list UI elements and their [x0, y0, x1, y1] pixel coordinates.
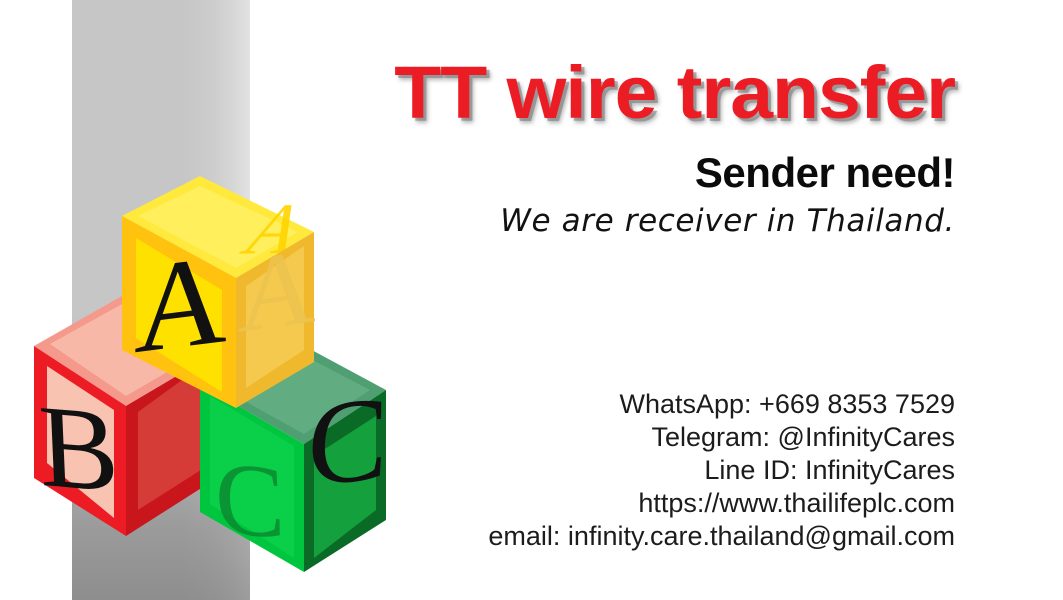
- subtitle-sender-need: Sender need!: [260, 150, 955, 196]
- poster-canvas: B C C: [0, 0, 1063, 600]
- svg-text:A: A: [134, 227, 229, 381]
- contact-website[interactable]: https://www.thailifeplc.com: [260, 487, 955, 520]
- contact-telegram[interactable]: Telegram: @InfinityCares: [260, 421, 955, 454]
- svg-text:B: B: [36, 379, 121, 517]
- page-title: TT wire transfer: [232, 56, 955, 130]
- contact-whatsapp[interactable]: WhatsApp: +669 8353 7529: [260, 388, 955, 421]
- contact-block: WhatsApp: +669 8353 7529 Telegram: @Infi…: [260, 388, 955, 553]
- contact-line-id[interactable]: Line ID: InfinityCares: [260, 454, 955, 487]
- text-column: TT wire transfer Sender need! We are rec…: [260, 0, 955, 600]
- tagline-receiver-thailand: We are receiver in Thailand.: [260, 203, 955, 240]
- contact-email[interactable]: email: infinity.care.thailand@gmail.com: [260, 520, 955, 553]
